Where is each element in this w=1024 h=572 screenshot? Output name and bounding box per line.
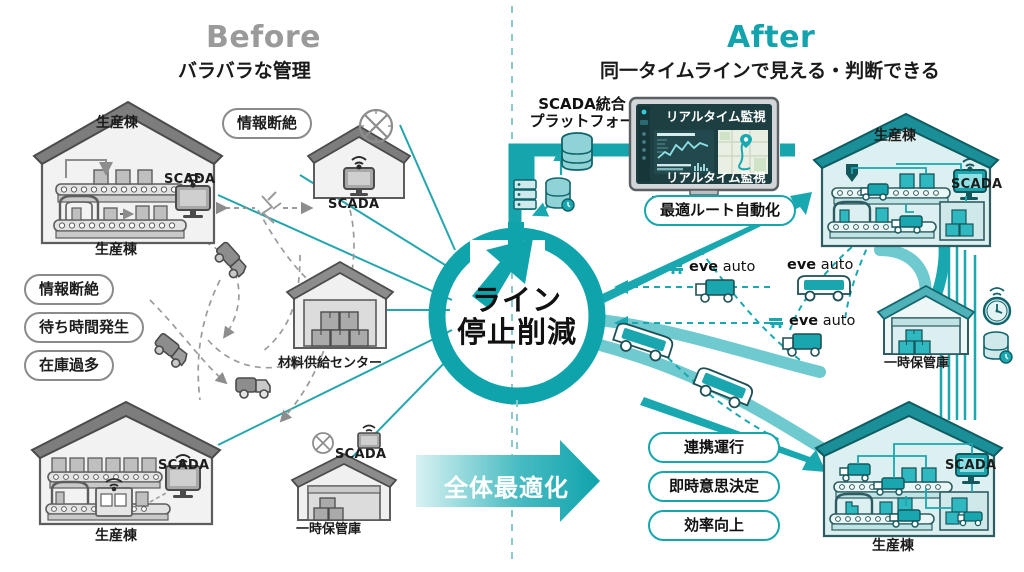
after-title-jp: 同一タイムラインで見える・判断できる: [600, 56, 940, 83]
monitor-top-text: リアルタイム監視: [666, 106, 766, 125]
monitor-caption-badge: 最適ルート自動化: [644, 195, 796, 226]
before-building-top-inner-label: 生産棟: [96, 112, 138, 132]
truck-icon: [690, 272, 742, 306]
no-signal-icon: [354, 104, 398, 148]
overall-optimization-label: 全体最適化: [444, 468, 569, 503]
benefit-badge-2: 効率向上: [648, 510, 780, 541]
monitor-bottom-text: リアルタイム監視: [666, 167, 766, 186]
monitor-icon: [352, 423, 386, 451]
platform-label-line1: SCADA統合: [528, 96, 636, 113]
no-signal-icon: [310, 430, 336, 456]
before-building-top-label: 生産棟: [95, 239, 137, 259]
benefit-badge-1: 即時意思決定: [648, 471, 780, 502]
after-benefit-badges: 連携運行 即時意思決定 効率向上: [648, 432, 780, 541]
eve-auto-logo-icon: [668, 260, 685, 275]
after-building-top-scada-label: SCADA: [951, 177, 1002, 192]
before-material-center-label: 材料供給センター: [278, 352, 382, 371]
problem-badge-2: 在庫過多: [24, 350, 114, 381]
before-building-bottom-scada-label: SCADA: [158, 458, 209, 473]
database-icon: [980, 330, 1014, 368]
before-problem-badges: 情報断絶 待ち時間発生 在庫過多: [24, 274, 144, 381]
server-icon: [512, 178, 538, 212]
after-building-bottom-label: 生産棟: [872, 535, 914, 555]
center-circle-text: ライン 停止削減: [457, 284, 577, 349]
before-building-top-scada-label: SCADA: [164, 172, 215, 187]
circle-line-2: 停止削減: [457, 316, 577, 348]
before-scada-house-label: SCADA: [328, 197, 379, 212]
problem-badge-1: 待ち時間発生: [24, 312, 144, 343]
after-building-bottom-scada-label: SCADA: [945, 458, 996, 473]
after-title-en: After: [727, 20, 815, 55]
benefit-badge-0: 連携運行: [648, 432, 780, 463]
before-building-bottom-label: 生産棟: [95, 525, 137, 545]
before-temp-storage: [288, 452, 400, 524]
clock-icon: [978, 283, 1016, 329]
infographic-canvas: Before バラバラな管理 After 同一タイムラインで見える・判断できる: [0, 0, 1024, 572]
building-graphic: [282, 258, 398, 354]
before-material-supply-center: [282, 258, 398, 354]
truck-icon: [777, 326, 829, 360]
truck-icon: [232, 366, 276, 406]
building-graphic: [288, 452, 400, 524]
building-graphic: [874, 284, 978, 358]
after-temp-storage-label: 一時保管庫: [884, 352, 949, 371]
problem-badge-0: 情報断絶: [24, 274, 114, 305]
circle-line-1: ライン: [457, 284, 577, 316]
before-title-jp: バラバラな管理: [178, 56, 311, 83]
shuttle-icon: [792, 270, 856, 306]
before-disconnect-badge: 情報断絶: [222, 108, 312, 139]
after-temp-storage: [874, 284, 978, 358]
before-title-en: Before: [206, 20, 321, 55]
database-icon: [542, 176, 576, 214]
before-temp-storage-label: 一時保管庫: [296, 518, 361, 537]
after-building-top-label: 生産棟: [874, 125, 916, 145]
database-icon: [556, 130, 598, 176]
